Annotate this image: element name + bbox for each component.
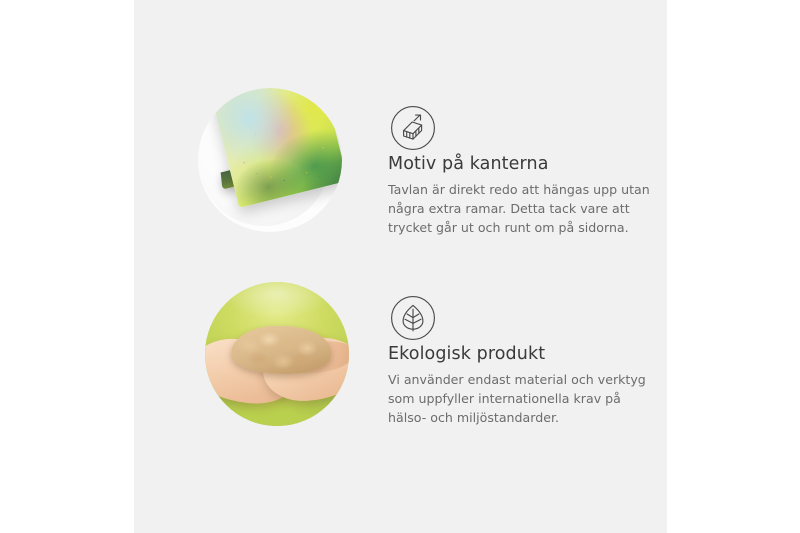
canvas-print-corner-photo [198,88,342,232]
feature-text-wrapped-edges: Motiv på kanterna Tavlan är direkt redo … [388,154,660,237]
canvas-wrapped-edges-icon [390,105,436,151]
feature-description: Vi använder endast material och verktyg … [388,370,660,427]
feature-block-ecological-product: Ekologisk produkt Vi använder endast mat… [190,270,660,435]
wood-chips-pile [231,326,331,374]
product-feature-infographic: Motiv på kanterna Tavlan är direkt redo … [0,0,800,533]
leaf-icon [390,295,436,341]
feature-title: Motiv på kanterna [388,154,660,175]
feature-block-wrapped-edges: Motiv på kanterna Tavlan är direkt redo … [190,80,660,245]
hands-holding-wood-chips-photo [205,282,349,426]
feature-text-ecological-product: Ekologisk produkt Vi använder endast mat… [388,344,660,427]
feature-description: Tavlan är direkt redo att hängas upp uta… [388,180,660,237]
feature-title: Ekologisk produkt [388,344,660,365]
